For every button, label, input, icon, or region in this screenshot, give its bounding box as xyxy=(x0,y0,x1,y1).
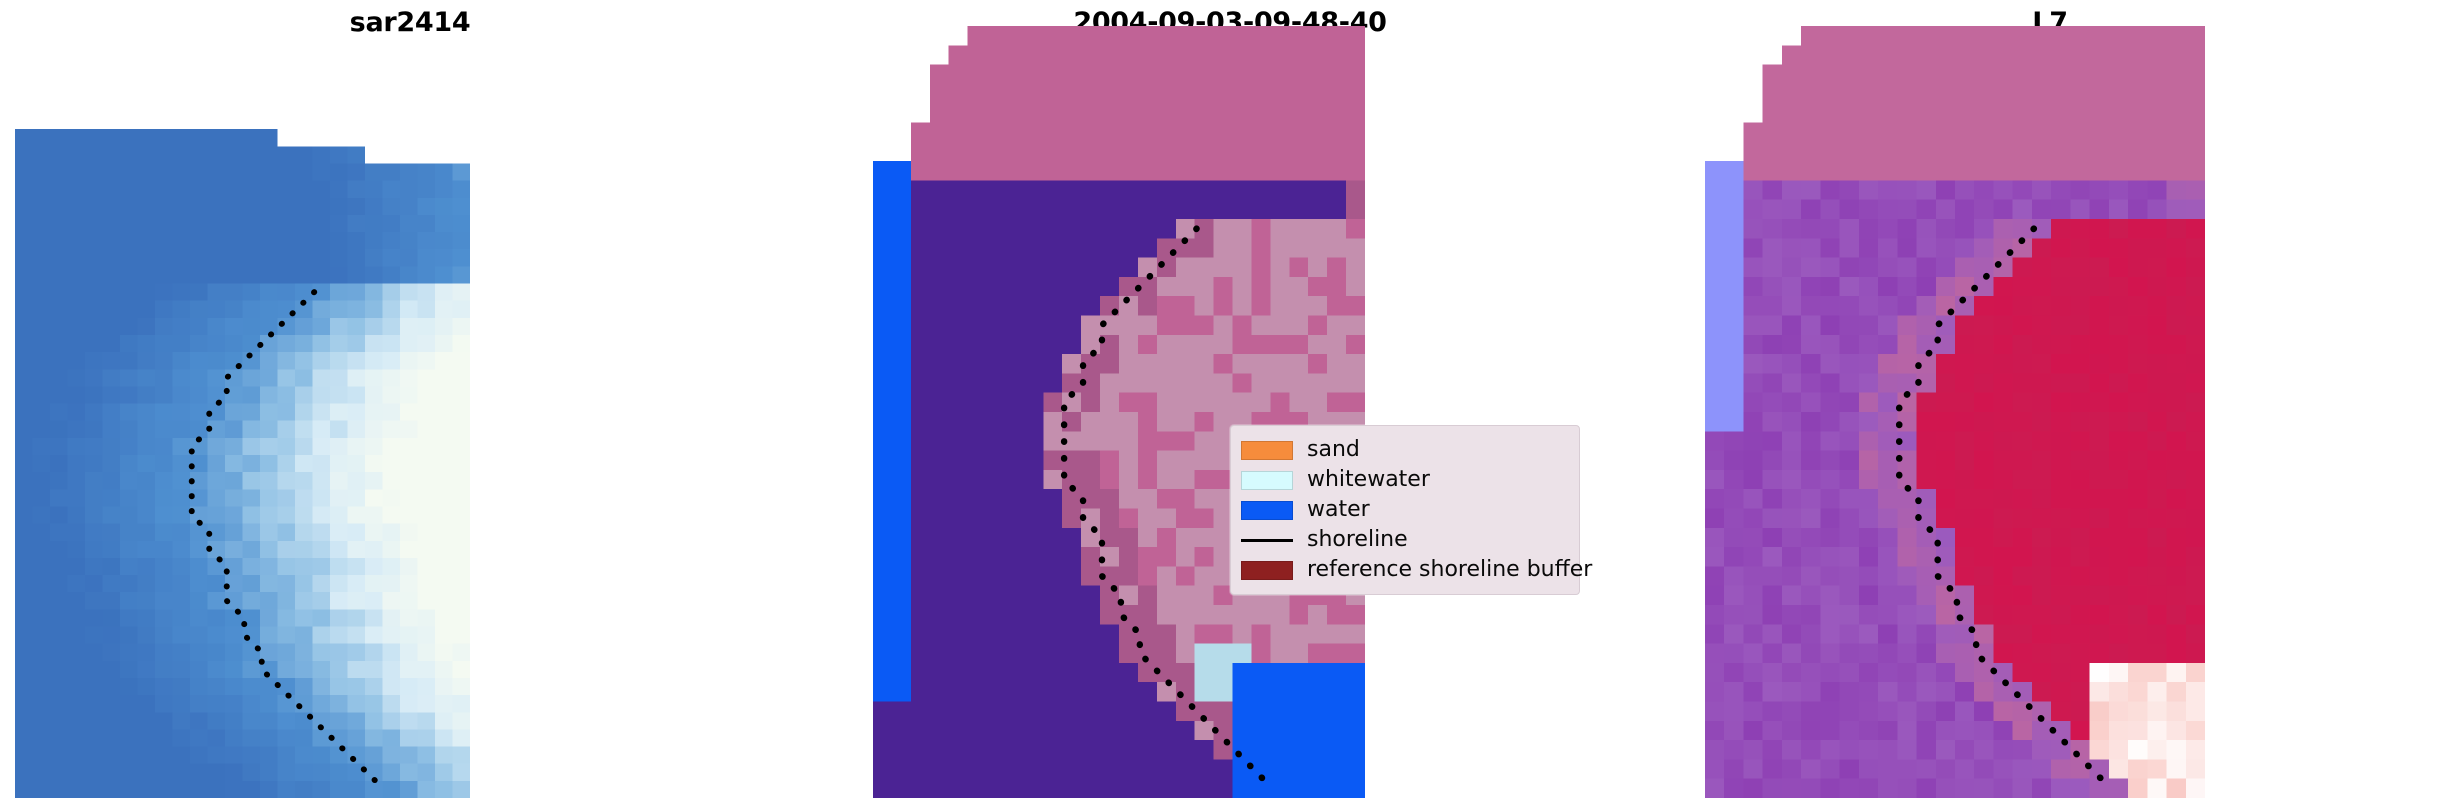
raster-canvas-3 xyxy=(1705,26,2205,798)
legend-item-whitewater: whitewater xyxy=(1241,465,1567,495)
panel-classified-overlay: 2004-09-03-09-48-40 sand whitewater wate… xyxy=(820,0,1640,798)
legend-label-sand: sand xyxy=(1307,437,1360,463)
raster-image-l7 xyxy=(1705,26,2205,798)
panel-1-title: sar2414 xyxy=(0,6,820,40)
legend-swatch-whitewater xyxy=(1241,471,1293,490)
legend-swatch-reference-buffer xyxy=(1241,561,1293,580)
legend-item-shoreline: shoreline xyxy=(1241,525,1567,555)
legend-label-water: water xyxy=(1307,497,1370,523)
legend-label-whitewater: whitewater xyxy=(1307,467,1430,493)
legend-swatch-sand xyxy=(1241,441,1293,460)
legend-label-shoreline: shoreline xyxy=(1307,527,1408,553)
legend-box: sand whitewater water shoreline referenc… xyxy=(1230,425,1580,595)
legend-item-sand: sand xyxy=(1241,435,1567,465)
legend-item-reference-buffer: reference shoreline buffer xyxy=(1241,555,1567,585)
panel-l7: L7 xyxy=(1640,0,2460,798)
raster-canvas-1 xyxy=(15,112,470,798)
raster-image-classified xyxy=(873,26,1365,798)
figure-root: sar2414 2004-09-03-09-48-40 sand whitewa… xyxy=(0,0,2460,798)
legend-swatch-shoreline xyxy=(1241,539,1293,542)
legend-item-water: water xyxy=(1241,495,1567,525)
panel-sar2414: sar2414 xyxy=(0,0,820,798)
legend-swatch-water xyxy=(1241,501,1293,520)
raster-image-sar2414 xyxy=(15,112,470,798)
legend-label-reference-buffer: reference shoreline buffer xyxy=(1307,557,1592,583)
raster-canvas-2 xyxy=(873,26,1365,798)
